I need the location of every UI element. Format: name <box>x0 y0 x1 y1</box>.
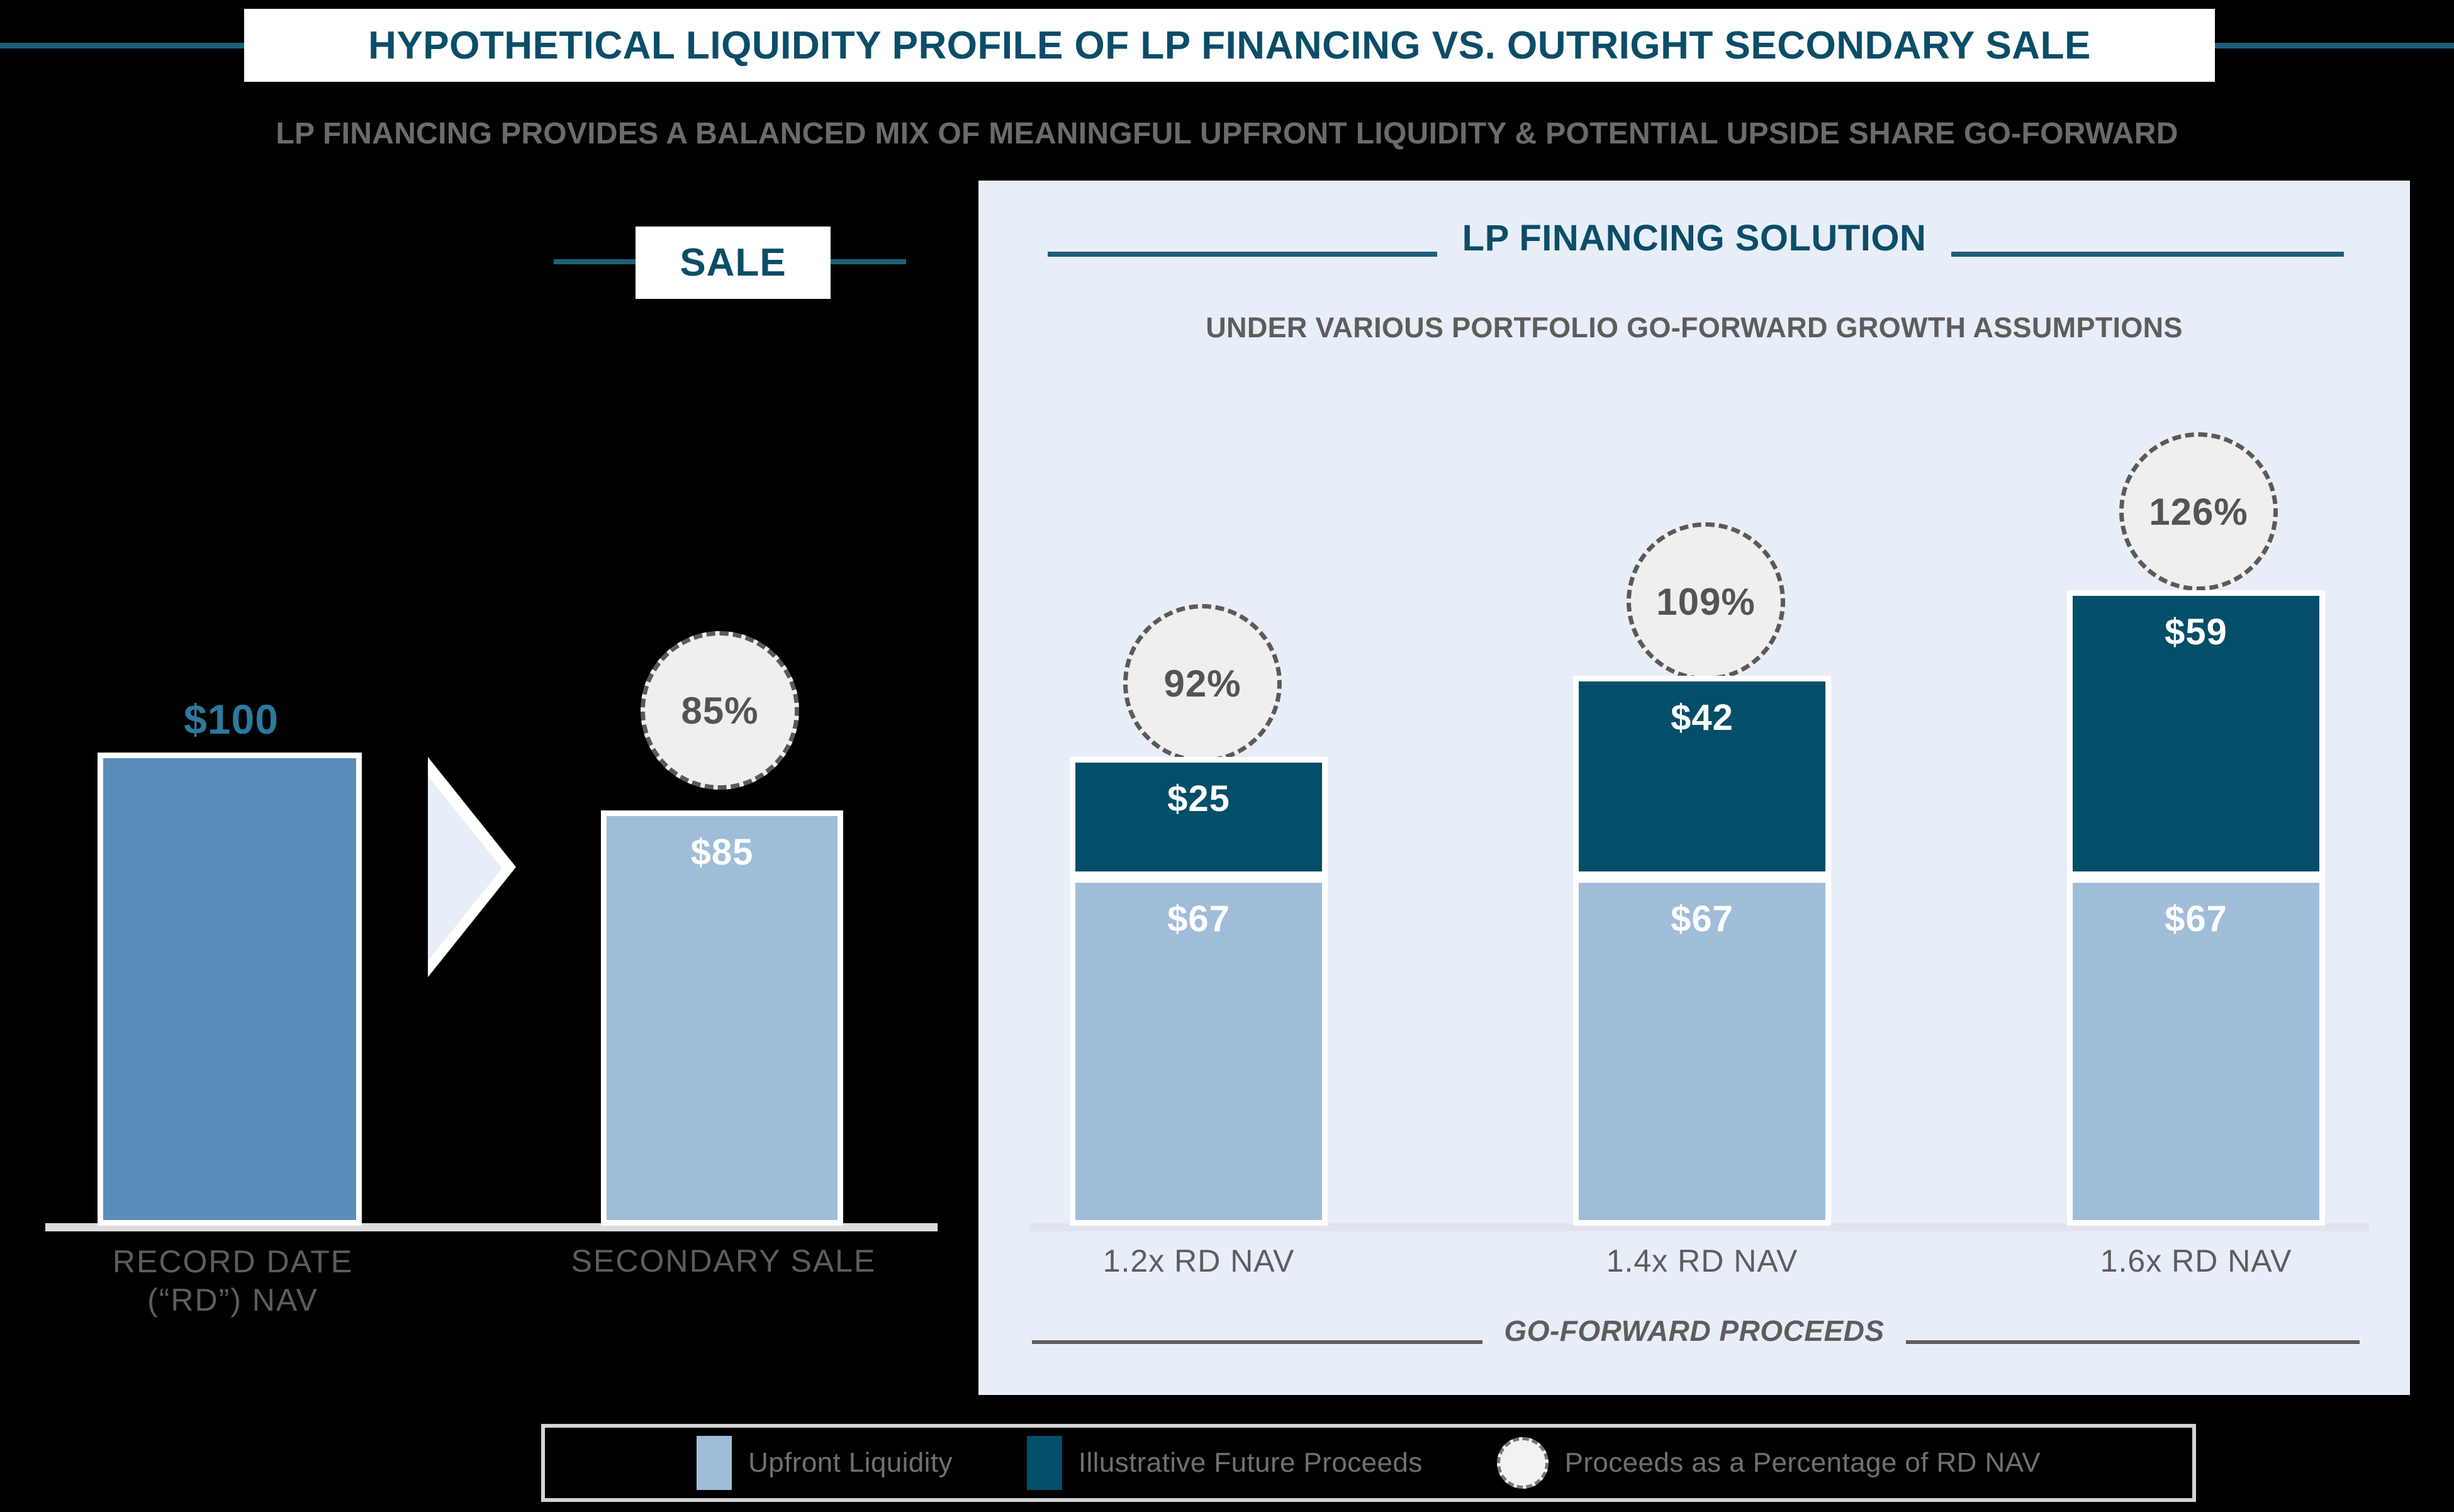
legend-item-percent-of-rd-nav: Proceeds as a Percentage of RD NAV <box>1497 1437 2041 1489</box>
lp-header-label: LP FINANCING SOLUTION <box>1437 217 1952 259</box>
category-label-secondary-sale: SECONDARY SALE <box>522 1243 925 1279</box>
segment-future-proceeds-1-2x: $25 <box>1070 757 1328 877</box>
arrow-right-inner-icon <box>428 776 502 961</box>
record-date-line2: (“RD”) NAV <box>0 1281 466 1319</box>
legend-label-percent-of-rd-nav: Proceeds as a Percentage of RD NAV <box>1565 1447 2041 1479</box>
bar-record-date-nav <box>98 753 362 1226</box>
category-label-1-6x: 1.6x RD NAV <box>2067 1243 2325 1279</box>
record-date-value-label: $100 <box>0 695 462 743</box>
title-banner: HYPOTHETICAL LIQUIDITY PROFILE OF LP FIN… <box>244 9 2215 82</box>
segment-upfront-liquidity-1-2x: $67 <box>1070 877 1328 1226</box>
percent-bubble-1-2x: 92% <box>1123 604 1282 763</box>
legend-swatch-dashed-circle-icon <box>1497 1437 1549 1489</box>
legend-label-upfront-liquidity: Upfront Liquidity <box>748 1447 953 1479</box>
bar-value-future-proceeds-1-6x: $59 <box>2165 611 2227 871</box>
chart-legend: Upfront Liquidity Illustrative Future Pr… <box>541 1424 2196 1502</box>
lp-subheader-label: UNDER VARIOUS PORTFOLIO GO-FORWARD GROWT… <box>978 311 2410 344</box>
bar-value-future-proceeds-1-4x: $42 <box>1671 697 1734 871</box>
segment-upfront-liquidity-1-4x: $67 <box>1573 877 1831 1226</box>
legend-swatch-upfront-liquidity-icon <box>697 1436 732 1490</box>
go-forward-label: GO-FORWARD PROCEEDS <box>1482 1314 1905 1348</box>
percent-bubble-1-4x: 109% <box>1627 522 1785 681</box>
bar-value-upfront-liquidity-1-6x: $67 <box>2165 898 2227 1220</box>
category-label-1-2x: 1.2x RD NAV <box>1070 1243 1328 1279</box>
percent-bubble-secondary-sale: 85% <box>641 631 799 790</box>
segment-upfront-liquidity-1-6x: $67 <box>2067 877 2325 1226</box>
legend-item-future-proceeds: Illustrative Future Proceeds <box>1027 1436 1423 1490</box>
go-forward-footer: GO-FORWARD PROCEEDS <box>978 1314 2410 1348</box>
category-label-record-date: RECORD DATE (“RD”) NAV <box>0 1243 466 1319</box>
record-date-line1: RECORD DATE <box>0 1243 466 1281</box>
bar-secondary-sale: $85 <box>601 810 843 1226</box>
bar-value-upfront-liquidity-1-2x: $67 <box>1167 898 1230 1220</box>
sale-header-label: SALE <box>680 240 786 285</box>
bar-value-secondary-sale: $85 <box>691 831 754 1220</box>
page-title: HYPOTHETICAL LIQUIDITY PROFILE OF LP FIN… <box>368 23 2091 68</box>
legend-item-upfront-liquidity: Upfront Liquidity <box>697 1436 953 1490</box>
segment-future-proceeds-1-4x: $42 <box>1573 676 1831 877</box>
bar-value-future-proceeds-1-2x: $25 <box>1167 778 1230 871</box>
category-label-1-4x: 1.4x RD NAV <box>1573 1243 1831 1279</box>
segment-future-proceeds-1-6x: $59 <box>2067 590 2325 877</box>
sale-header-badge: SALE <box>636 227 831 299</box>
lp-header: LP FINANCING SOLUTION <box>978 217 2410 259</box>
bar-value-upfront-liquidity-1-4x: $67 <box>1671 898 1734 1220</box>
legend-swatch-future-proceeds-icon <box>1027 1436 1062 1490</box>
page-subtitle: LP FINANCING PROVIDES A BALANCED MIX OF … <box>0 116 2454 151</box>
legend-label-future-proceeds: Illustrative Future Proceeds <box>1079 1447 1423 1479</box>
percent-bubble-1-6x: 126% <box>2119 432 2278 591</box>
